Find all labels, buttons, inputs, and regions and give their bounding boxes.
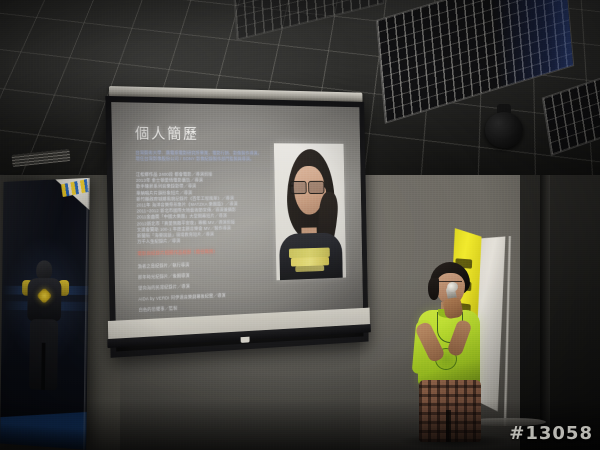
slide-works-block: 漁者之島紀錄片／執行導演 那年時光紀錄片／後期導演 望向海的民眾紀錄片／導演 A… [138,257,269,316]
slide-portrait-photo [274,143,346,280]
projection-screen: 個人簡歷 台灣藝術大學．廣電系電影研究所畢業，電影行銷、影像製作導演。 現任台灣… [105,96,368,366]
slide-intro-line: 現任台灣影像股份公司 / SONY 影像紀錄製作部門監製與導演。 [135,156,265,162]
slide-credits-block: 江松鄉作品 2400段 都會電影／導演剪接 2013年 金士頓愛情電影廣告／導演… [136,172,267,246]
slide-intro-block: 台灣藝術大學．廣電系電影研究所畢業，電影行銷、影像製作導演。 現任台灣影像股份公… [135,150,265,162]
presenter-hand [442,297,463,320]
portrait-shirt-graphic [288,248,331,276]
portrait-glasses-icon [290,181,324,192]
wall-corner-post [540,150,550,430]
photo-scene: 個人簡歷 台灣藝術大學．廣電系電影研究所畢業，電影行銷、影像製作導演。 現任台灣… [0,0,600,450]
slide-title: 個人簡歷 [135,122,199,143]
ceiling-dome-speaker-icon [485,112,523,148]
projected-slide: 個人簡歷 台灣藝術大學．廣電系電影研究所畢業，電影行銷、影像製作導演。 現任台灣… [111,102,363,324]
screen-pull-handle[interactable] [241,337,250,343]
watermark: #13058 [509,423,593,444]
slide-section-header: 電影與紀錄片相關作品經歷（擔任職務） [137,247,267,257]
portrait-glasses-bridge [289,185,293,187]
